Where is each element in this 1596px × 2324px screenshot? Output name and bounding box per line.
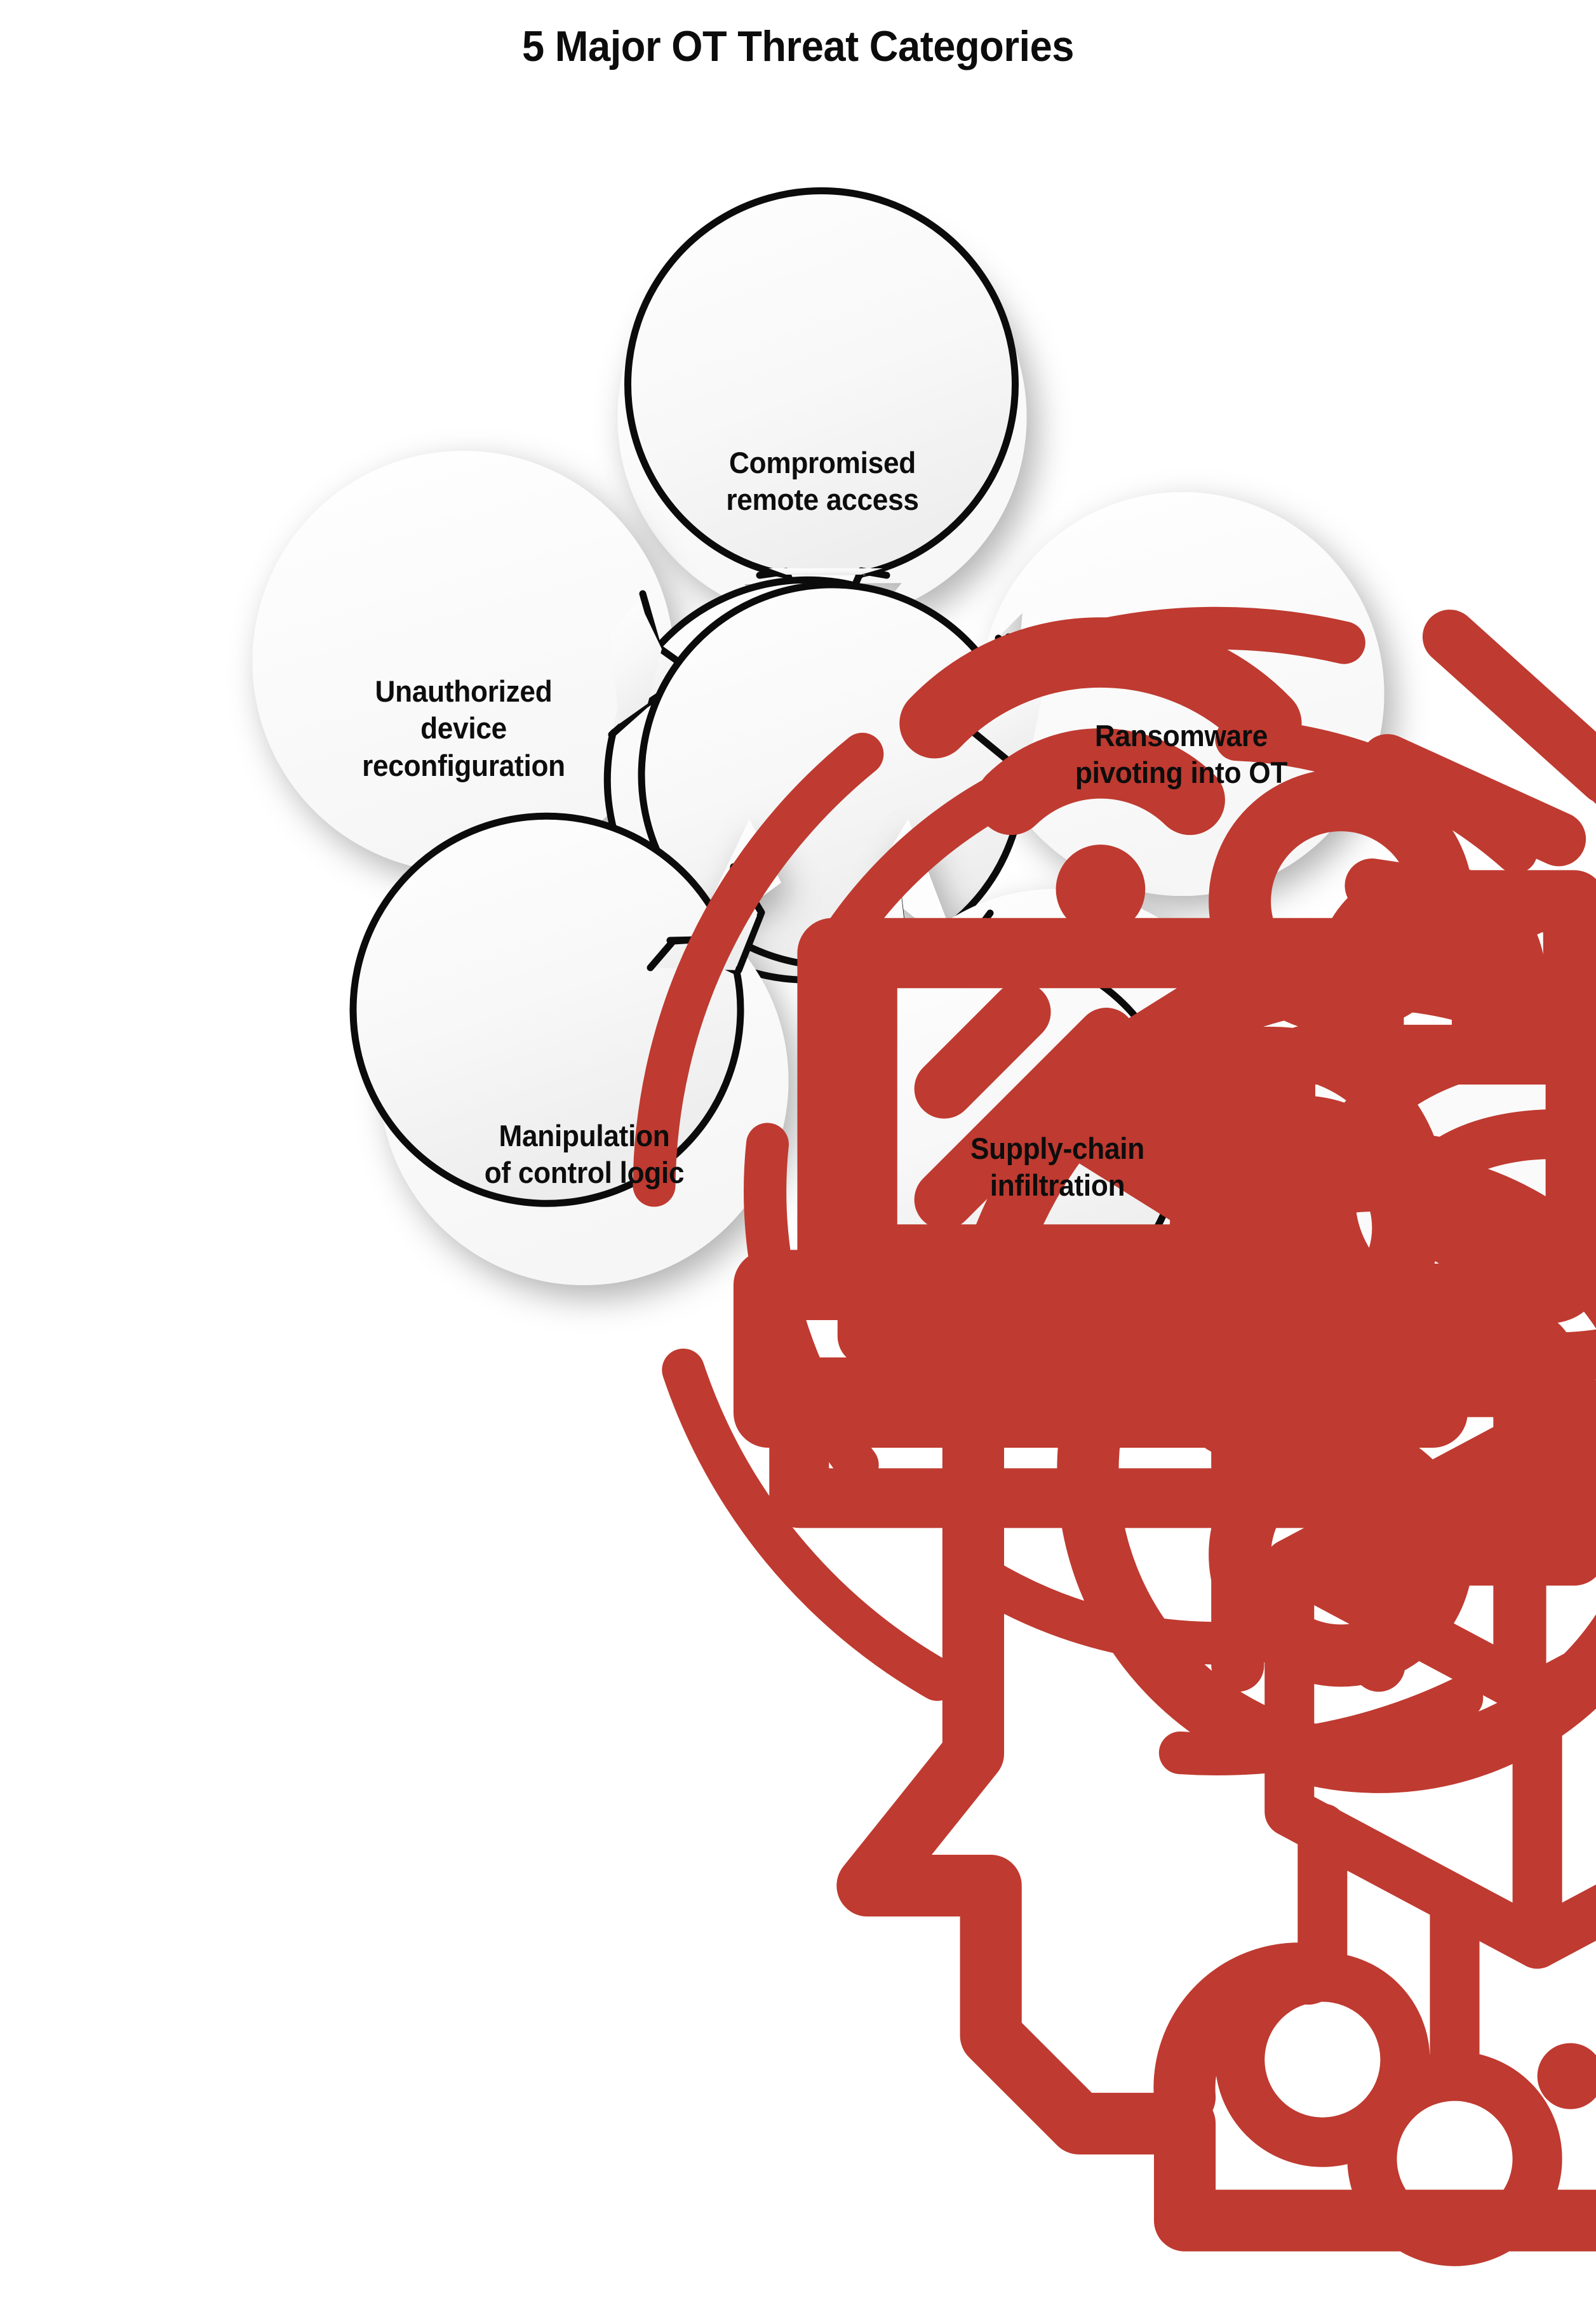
bubble-manipulation-of-control-logic[interactable]	[353, 816, 788, 1285]
threat-categories-diagram: Compromised remote access Unauthorized d…	[0, 0, 1596, 1322]
bubble-body-br	[804, 949, 1180, 1326]
bubble-body-bl	[353, 816, 741, 1203]
bubble-cluster-svg	[0, 0, 1596, 1322]
